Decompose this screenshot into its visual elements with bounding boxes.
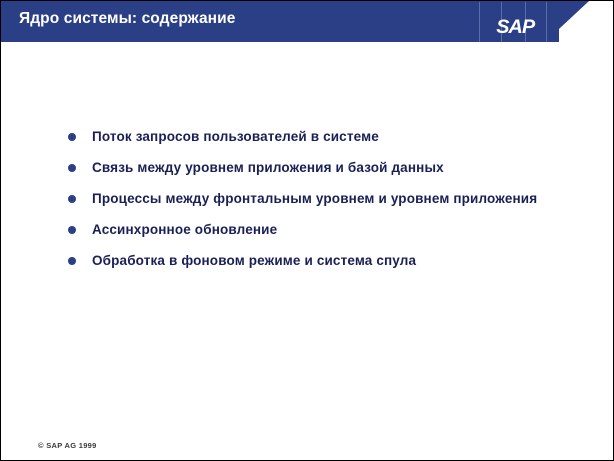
slide-title: Ядро системы: содержание [19, 10, 236, 28]
sap-logo: SAP [479, 2, 547, 42]
sap-logo-text: SAP [482, 18, 549, 38]
list-item-label: Связь между уровнем приложения и базой д… [92, 159, 568, 177]
list-item-label: Поток запросов пользователей в системе [92, 128, 568, 146]
bullet-dot-icon [68, 195, 76, 203]
list-item: Связь между уровнем приложения и базой д… [68, 159, 568, 177]
slide-header: SAP Ядро системы: содержание [1, 1, 613, 42]
bullet-dot-icon [68, 226, 76, 234]
copyright-footer: © SAP AG 1999 [38, 441, 97, 450]
list-item: Ассинхронное обновление [68, 221, 568, 239]
logo-divider-line [479, 2, 480, 42]
bullet-dot-icon [68, 164, 76, 172]
list-item: Обработка в фоновом режиме и система спу… [68, 252, 568, 270]
list-item-label: Обработка в фоновом режиме и система спу… [92, 252, 568, 270]
list-item: Процессы между фронтальным уровнем и уро… [68, 190, 568, 208]
bullet-dot-icon [68, 257, 76, 265]
list-item-label: Процессы между фронтальным уровнем и уро… [92, 190, 568, 208]
bullet-dot-icon [68, 133, 76, 141]
list-item-label: Ассинхронное обновление [92, 221, 568, 239]
list-item: Поток запросов пользователей в системе [68, 128, 568, 146]
presentation-slide: SAP Ядро системы: содержание Поток запро… [0, 0, 614, 461]
bullet-list: Поток запросов пользователей в системе С… [68, 128, 568, 270]
header-diagonal-wedge [545, 1, 589, 42]
